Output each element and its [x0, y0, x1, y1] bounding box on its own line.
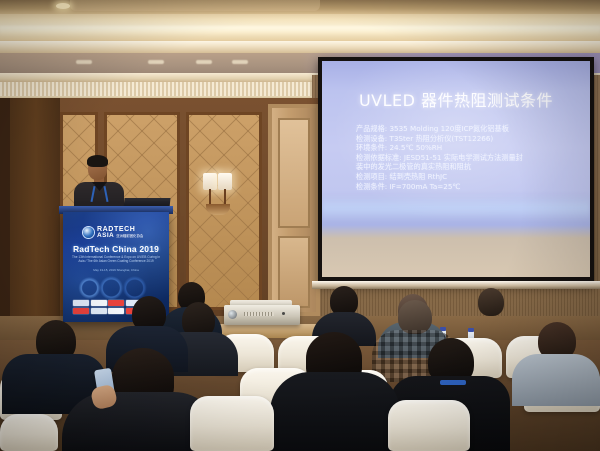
- speaker-hair: [87, 155, 108, 167]
- event-title: RadTech China 2019: [63, 244, 169, 254]
- radtech-logo: RADTECH ASIA 亚洲辐射固化协会: [83, 226, 151, 239]
- ceiling-downlight-icon: [56, 3, 70, 9]
- wall-sconce: [203, 173, 239, 219]
- conference-photo: UVLED 器件热阻测试条件 产品规格: 3535 Molding 120度IC…: [0, 0, 600, 451]
- sponsor-logo: [108, 300, 124, 306]
- sconce-base: [206, 204, 230, 215]
- cove-light: [0, 26, 600, 35]
- projector-vent: [244, 312, 274, 316]
- wall-column-edge: [0, 98, 10, 348]
- soffit-light-icon: [148, 60, 164, 64]
- audience-head: [398, 300, 432, 334]
- slide-bullet: 检测条件: IF=700mA Ta=25℃: [356, 182, 581, 192]
- screen-haze: [322, 195, 590, 221]
- slide-bullet: 装中的发光二极管的真实热阻和阻抗: [356, 162, 581, 172]
- slide-bullet: 检测依据标准: JESD51-51 实际电学测试方法测量封: [356, 153, 581, 163]
- radtech-logo-cn: 亚洲辐射固化协会: [116, 234, 143, 238]
- radtech-logo-text: RADTECH ASIA 亚洲辐射固化协会: [97, 226, 143, 240]
- projector-lens-icon: [228, 310, 237, 319]
- audience-lanyard: [440, 380, 466, 385]
- slide-bullet: 产品规格: 3535 Molding 120度ICP氮化铝基板: [356, 124, 581, 134]
- slide-bullet: 环境条件: 24.5℃ 50%RH: [356, 143, 581, 153]
- crown-molding-upper: [0, 41, 600, 53]
- ceiling-slab: [70, 0, 320, 11]
- audience-shoulders-long-hair: [270, 372, 400, 451]
- projection-screen: UVLED 器件热阻测试条件 产品规格: 3535 Molding 120度IC…: [322, 61, 590, 277]
- soffit-light-icon: [196, 60, 212, 64]
- sponsor-logo: [91, 300, 107, 306]
- radtech-logo-secondary: ASIA 亚洲辐射固化协会: [97, 233, 143, 240]
- globe-icon: [83, 227, 94, 238]
- sponsor-logo: [91, 308, 107, 314]
- sconce-shade-left-icon: [203, 173, 217, 190]
- sponsor-logo: [73, 300, 89, 306]
- soffit-light-icon: [232, 60, 248, 64]
- chair: [190, 396, 274, 451]
- slide-bullet: 检测项目: 结到壳热阻 RthJC: [356, 172, 581, 182]
- chair: [388, 400, 470, 451]
- slide-body: 产品规格: 3535 Molding 120度ICP氮化铝基板 检测设备: T3…: [356, 124, 581, 191]
- audience-shoulders: [512, 354, 600, 406]
- sponsor-logo: [73, 308, 89, 314]
- projector-indicator-icon: [282, 312, 285, 315]
- event-subtitle: The 13th International Conference & Expo…: [69, 255, 163, 264]
- soffit-light-icon: [76, 60, 92, 64]
- audience-head: [478, 288, 504, 316]
- door-panel-lower: [278, 236, 310, 308]
- chair: [0, 414, 58, 451]
- event-date: May 13-15, 2019 Shanghai, China: [69, 268, 163, 272]
- screen-bottom-bar: [312, 281, 600, 289]
- sponsor-logo: [108, 308, 124, 314]
- sconce-shade-right-icon: [218, 173, 232, 190]
- slide-title: UVLED 器件热阻测试条件: [322, 87, 590, 111]
- bottle-cap-icon: [468, 328, 474, 332]
- door-panel-upper: [278, 118, 310, 228]
- slide-bullet: 检测设备: T3Ster 热阻分析仪(TST12266): [356, 134, 581, 144]
